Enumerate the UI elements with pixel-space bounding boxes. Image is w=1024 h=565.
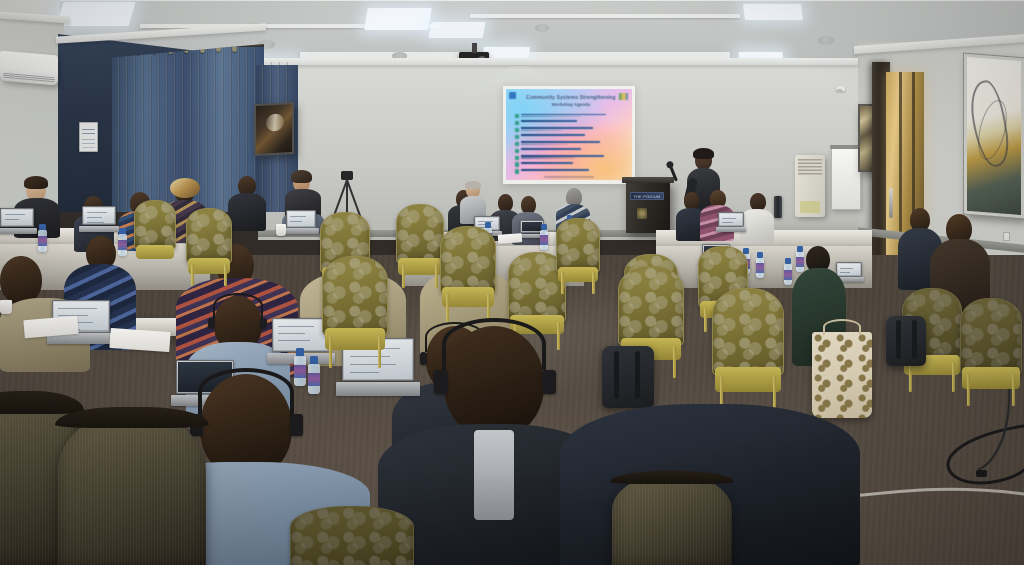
interpretation-headset[interactable] bbox=[213, 293, 263, 319]
laptop[interactable] bbox=[82, 206, 116, 232]
drinking-cup[interactable] bbox=[0, 300, 12, 314]
paper-document[interactable] bbox=[109, 328, 170, 352]
gold-damask-banquet-chair[interactable] bbox=[712, 288, 784, 412]
agenda-icon bbox=[515, 169, 519, 173]
laptop[interactable] bbox=[0, 208, 34, 234]
air-conditioner-split-unit bbox=[0, 50, 58, 85]
interpretation-headset-cup[interactable] bbox=[290, 414, 303, 436]
interpretation-headset-cup[interactable] bbox=[434, 370, 448, 394]
slide-title-line-1: Community Systems Strengthening bbox=[522, 95, 619, 101]
slide-bullet-row bbox=[515, 169, 625, 175]
slide-footer bbox=[544, 176, 594, 177]
agenda-icon bbox=[515, 128, 519, 132]
interpretation-headset-cup[interactable] bbox=[542, 370, 556, 394]
laptop[interactable] bbox=[718, 212, 744, 232]
conference-room-photo: Community Systems Strengthening Workshop… bbox=[0, 0, 1024, 565]
gold-damask-banquet-chair[interactable] bbox=[290, 506, 414, 565]
slide-title: Community Systems Strengthening Workshop… bbox=[522, 95, 619, 107]
slide-bullet-row bbox=[515, 127, 625, 133]
slide-logo-left-icon bbox=[509, 92, 516, 99]
gold-damask-banquet-chair[interactable] bbox=[186, 208, 232, 286]
agenda-icon bbox=[515, 135, 519, 139]
slide-bullet-row bbox=[515, 120, 625, 126]
flipchart-board bbox=[831, 148, 861, 210]
workshop-participant bbox=[228, 176, 266, 230]
door-handle-icon[interactable] bbox=[889, 188, 893, 218]
water-bottle[interactable] bbox=[784, 258, 792, 285]
slide-bullet-row bbox=[515, 114, 625, 120]
agenda-icon bbox=[515, 142, 519, 146]
projection-screen: Community Systems Strengthening Workshop… bbox=[506, 89, 632, 180]
backpack[interactable] bbox=[886, 316, 926, 366]
podium-plaque: THE PODIUM bbox=[630, 192, 664, 200]
backpack[interactable] bbox=[602, 346, 654, 408]
dark-upholstered-armchair[interactable] bbox=[58, 412, 206, 565]
water-bottle[interactable] bbox=[756, 252, 764, 278]
slide-bullet-row bbox=[515, 141, 625, 147]
slide-bullet-row bbox=[515, 134, 625, 140]
wall-control-panel[interactable] bbox=[79, 122, 98, 152]
water-bottle[interactable] bbox=[118, 228, 127, 256]
interpretation-headset[interactable] bbox=[442, 318, 546, 370]
thermos-flask[interactable] bbox=[774, 196, 782, 218]
framed-artwork-right bbox=[964, 54, 1024, 219]
slide-title-line-2: Workshop Agenda bbox=[522, 102, 619, 107]
slide-bullet-list bbox=[515, 114, 625, 175]
security-camera bbox=[836, 86, 845, 91]
water-bottle[interactable] bbox=[540, 224, 548, 250]
agenda-icon bbox=[515, 114, 519, 118]
interpretation-headset-cup[interactable] bbox=[208, 318, 215, 328]
slide-bullet-row bbox=[515, 155, 625, 161]
laptop[interactable] bbox=[286, 210, 316, 234]
interpretation-headset-cup[interactable] bbox=[260, 318, 267, 328]
water-bottle[interactable] bbox=[38, 224, 47, 252]
podium-emblem-icon bbox=[637, 208, 647, 219]
interpretation-headset[interactable] bbox=[198, 368, 294, 416]
agenda-icon bbox=[515, 149, 519, 153]
speaker-podium: THE PODIUM bbox=[626, 181, 670, 233]
agenda-icon bbox=[515, 162, 519, 166]
drinking-cup[interactable] bbox=[276, 224, 286, 236]
gold-damask-banquet-chair[interactable] bbox=[440, 226, 496, 322]
dark-upholstered-armchair[interactable] bbox=[612, 474, 732, 565]
slide-bullet-row bbox=[515, 162, 625, 168]
gold-damask-banquet-chair[interactable] bbox=[556, 218, 600, 294]
power-socket[interactable] bbox=[1003, 232, 1010, 241]
air-conditioner-standing-unit bbox=[795, 155, 825, 217]
slide-logo-right-icon bbox=[619, 93, 628, 100]
slide-bullet-row bbox=[515, 148, 625, 154]
workshop-participant bbox=[740, 193, 774, 243]
framed-artwork-left bbox=[254, 102, 294, 156]
gold-damask-banquet-chair[interactable] bbox=[396, 204, 444, 288]
gold-damask-banquet-chair[interactable] bbox=[134, 200, 176, 270]
agenda-icon bbox=[515, 121, 519, 125]
agenda-icon bbox=[515, 156, 519, 160]
gold-damask-banquet-chair[interactable] bbox=[960, 298, 1022, 406]
head-wrap bbox=[170, 178, 200, 198]
